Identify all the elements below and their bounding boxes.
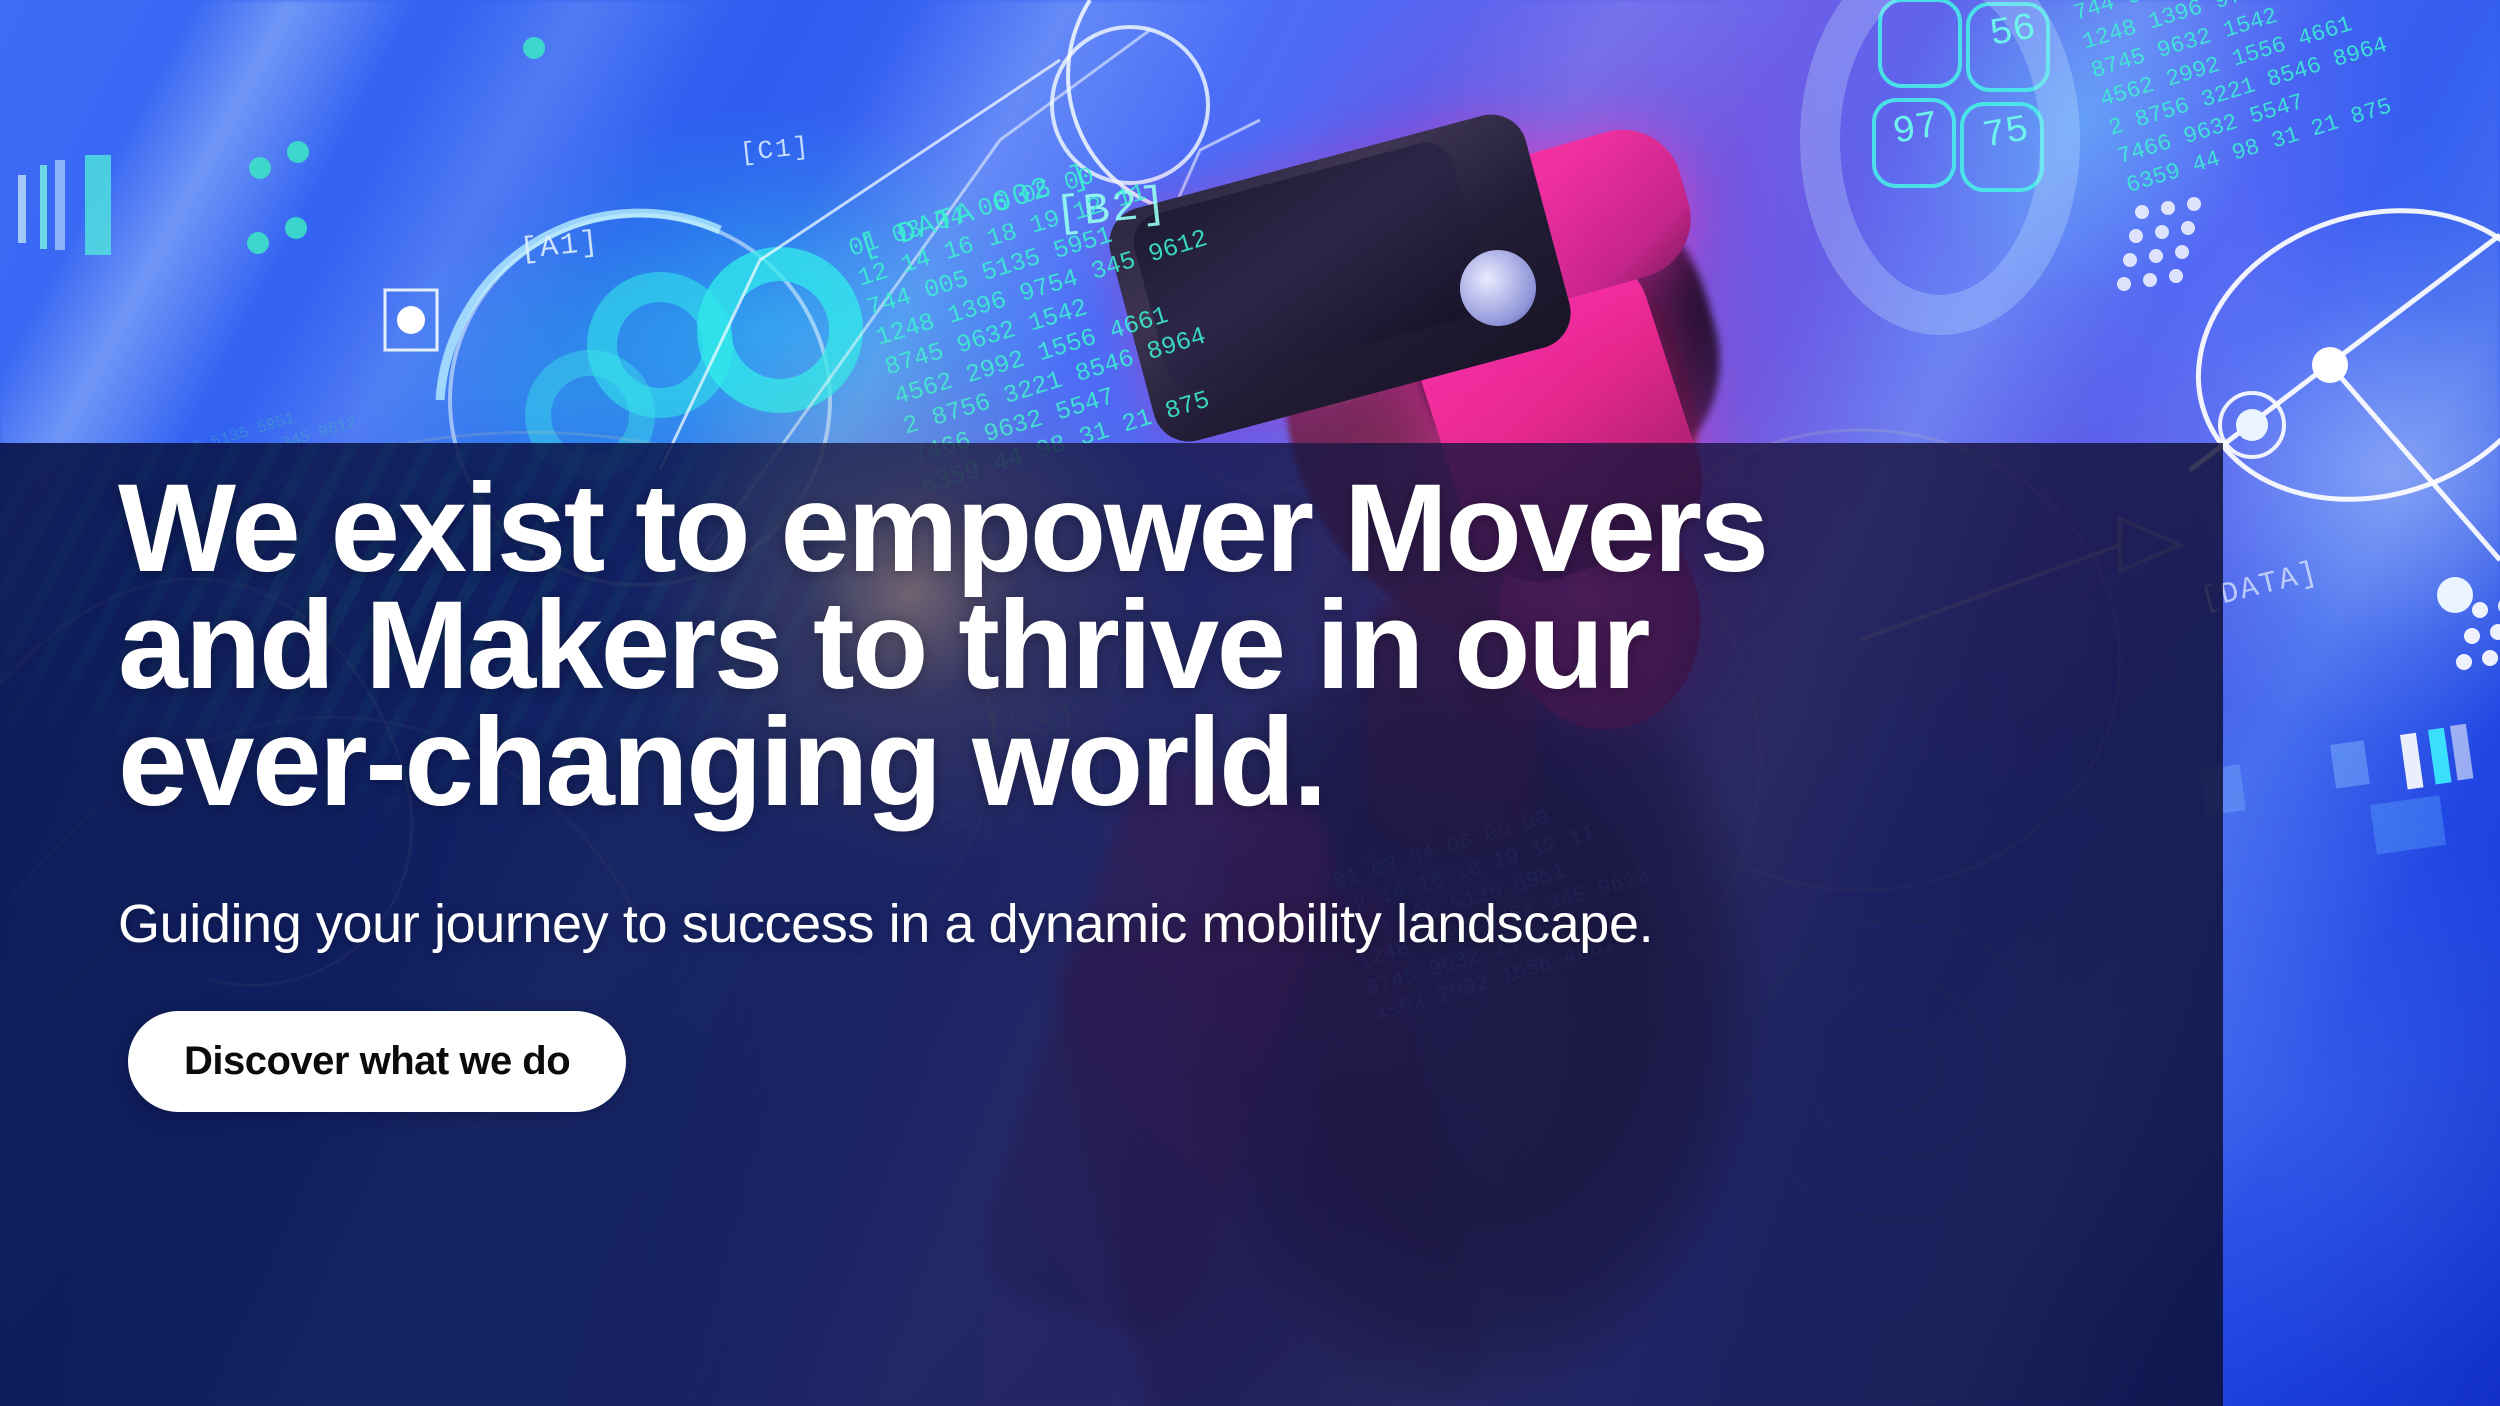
page-title: We exist to empower Movers and Makers to… — [118, 470, 2118, 821]
discover-what-we-do-button[interactable]: Discover what we do — [128, 1011, 626, 1112]
hero-banner: [C1][A1][B2][ DATA 002 ][A2][B3][DATA]01… — [0, 0, 2500, 1406]
hero-content: We exist to empower Movers and Makers to… — [118, 470, 2118, 1112]
headline-line-1: We exist to empower Movers — [118, 470, 2118, 587]
headline-line-2: and Makers to thrive in our — [118, 587, 2118, 704]
hero-subtitle: Guiding your journey to success in a dyn… — [118, 893, 2118, 955]
headline-line-3: ever-changing world. — [118, 704, 2118, 821]
